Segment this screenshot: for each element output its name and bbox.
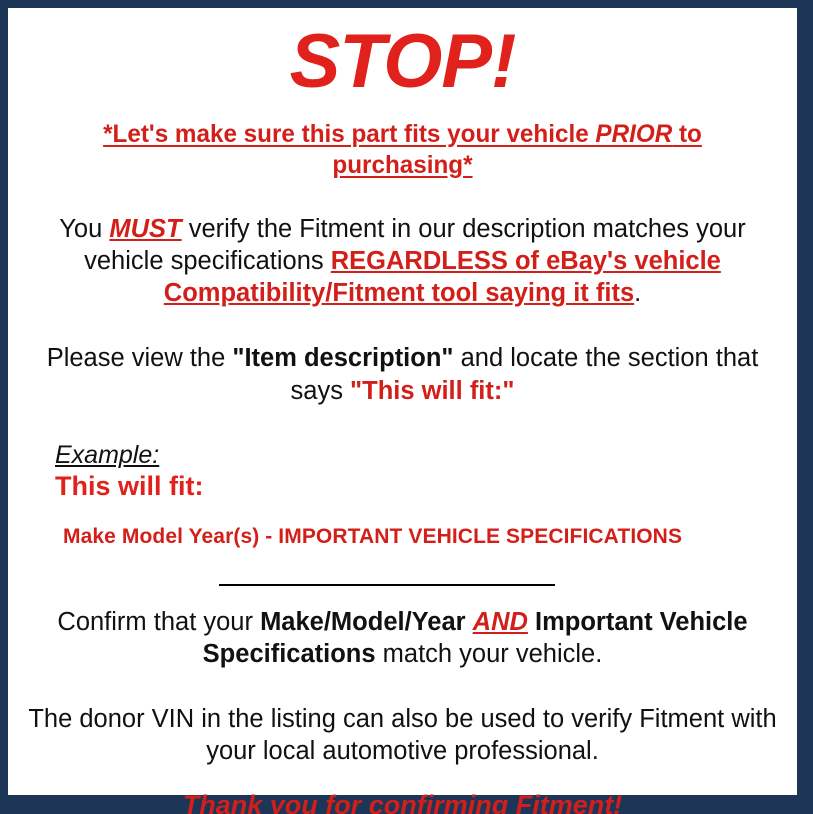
and-emphasis: AND xyxy=(473,608,528,636)
verify-paragraph: You MUST verify the Fitment in our descr… xyxy=(22,213,783,309)
view-paragraph: Please view the "Item description" and l… xyxy=(22,342,783,406)
make-model-year-emphasis: Make/Model/Year xyxy=(260,608,466,636)
example-fit-line: This will fit: xyxy=(55,471,783,502)
tagline: *Let's make sure this part fits your veh… xyxy=(33,119,771,182)
thanks-line: Thank you for confirming Fitment! xyxy=(22,789,783,814)
notice-inner-panel: STOP! *Let's make sure this part fits yo… xyxy=(8,8,797,795)
item-description-emphasis: "Item description" xyxy=(232,344,453,372)
divider xyxy=(22,574,783,598)
tagline-emphasis: PRIOR xyxy=(595,120,672,148)
confirm-part1: Confirm that your xyxy=(57,608,260,636)
example-spec-line: Make Model Year(s) - IMPORTANT VEHICLE S… xyxy=(55,524,783,549)
view-part1: Please view the xyxy=(47,344,233,372)
verify-part1: You xyxy=(59,215,109,243)
fitment-notice-card: STOP! *Let's make sure this part fits yo… xyxy=(0,0,813,814)
example-block: Example: This will fit: Make Model Year(… xyxy=(22,441,783,550)
divider-rule xyxy=(219,584,555,586)
vin-paragraph: The donor VIN in the listing can also be… xyxy=(22,703,783,767)
stop-heading: STOP! xyxy=(22,8,783,103)
confirm-part2: match your vehicle. xyxy=(376,640,603,668)
confirm-paragraph: Confirm that your Make/Model/Year AND Im… xyxy=(22,606,783,670)
this-will-fit-emphasis: "This will fit:" xyxy=(350,377,514,405)
example-label: Example: xyxy=(55,441,783,470)
tagline-before: *Let's make sure this part fits your veh… xyxy=(103,120,595,148)
must-emphasis: MUST xyxy=(109,215,181,243)
verify-part3: . xyxy=(634,279,641,307)
